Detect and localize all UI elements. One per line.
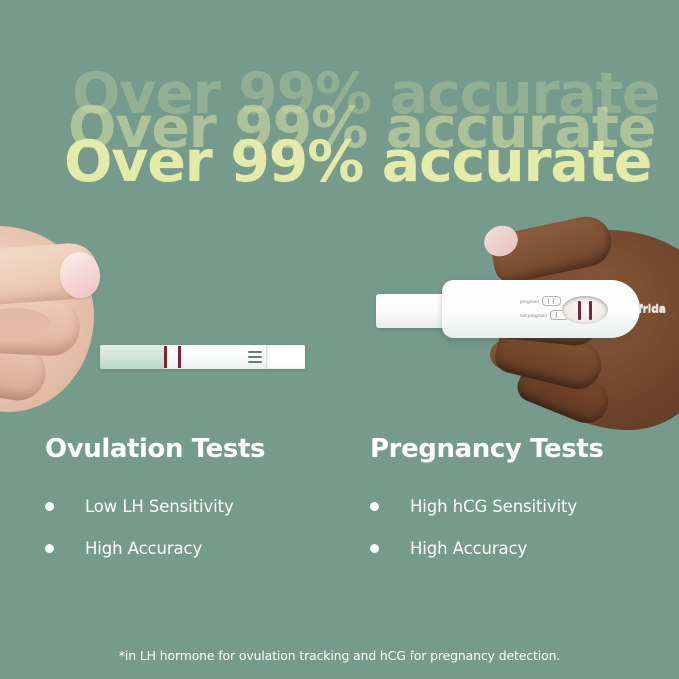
column-pregnancy-tests: Pregnancy Tests High hCG Sensitivity Hig… [370, 436, 670, 576]
bullet-label: High Accuracy [410, 539, 527, 558]
product-photo-band: pregnant not pregnant frida [0, 200, 679, 430]
bullet-item: High Accuracy [370, 534, 670, 562]
bullet-label: High Accuracy [85, 539, 202, 558]
column-ovulation-tests: Ovulation Tests Low LH Sensitivity High … [45, 436, 345, 576]
bullet-dot-icon [45, 502, 54, 511]
ovulation-result-line-control [164, 346, 167, 368]
ovulation-strip-absorbent-pad [100, 345, 164, 369]
bullet-item: High hCG Sensitivity [370, 492, 670, 520]
pregnancy-test-device: pregnant not pregnant frida [376, 278, 640, 340]
frida-brand-logo: frida [638, 302, 666, 315]
headline-stack: Over 99% accurate Over 99% accurate Over… [0, 58, 679, 203]
ovulation-result-line-test [178, 346, 181, 368]
feature-columns: Ovulation Tests Low LH Sensitivity High … [0, 436, 679, 586]
bullet-label: High hCG Sensitivity [410, 497, 577, 516]
column-title-ovulation: Ovulation Tests [45, 436, 345, 462]
pregnancy-test-body: pregnant not pregnant frida [442, 280, 640, 338]
two-lines-icon [542, 296, 561, 306]
ovulation-strip-grip-lines [248, 351, 262, 363]
pregnancy-test-result-window [562, 296, 608, 324]
headline-layer-front: Over 99% accurate [64, 134, 651, 191]
bullet-item: High Accuracy [45, 534, 345, 562]
column-title-pregnancy: Pregnancy Tests [370, 436, 670, 462]
result-line-control [578, 301, 581, 320]
bullet-dot-icon [370, 544, 379, 553]
bullet-dot-icon [370, 502, 379, 511]
ovulation-test-strip [100, 345, 305, 369]
hand-holding-ovulation-test [0, 212, 118, 427]
ovulation-strip-handle [266, 345, 305, 369]
bullet-item: Low LH Sensitivity [45, 492, 345, 520]
pregnancy-test-absorbent-tip [376, 294, 450, 328]
result-line-test [589, 301, 592, 320]
legend-label-pregnant: pregnant [520, 299, 539, 304]
bullet-label: Low LH Sensitivity [85, 497, 234, 516]
bullet-dot-icon [45, 544, 54, 553]
ad-canvas: Over 99% accurate Over 99% accurate Over… [0, 0, 679, 679]
legend-label-not-pregnant: not pregnant [520, 313, 547, 318]
footnote-disclaimer: *in LH hormone for ovulation tracking an… [0, 648, 679, 663]
